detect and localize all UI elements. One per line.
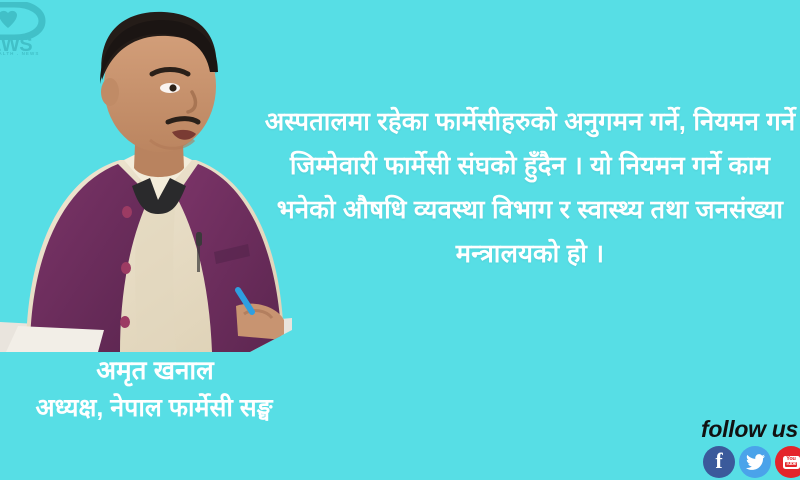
- facebook-icon[interactable]: f: [703, 446, 735, 478]
- facebook-glyph: f: [715, 450, 722, 472]
- youtube-glyph: You Tube: [783, 456, 800, 469]
- twitter-bird-glyph: [746, 454, 765, 470]
- speaker-name: अमृत खनाल: [0, 354, 310, 386]
- logo-tagline: HEALTH . NEWS: [0, 52, 39, 57]
- youtube-line-2: Tube: [785, 462, 798, 467]
- channel-logo: EWS HEALTH . NEWS: [0, 2, 58, 58]
- youtube-icon[interactable]: You Tube: [775, 446, 800, 478]
- follow-us-label: follow us: [701, 416, 798, 442]
- news-quote-card: EWS HEALTH . NEWS अस्पतालमा रहेका फार्मे…: [0, 0, 800, 480]
- quote-text: अस्पतालमा रहेका फार्मेसीहरुको अनुगमन गर्…: [262, 100, 798, 276]
- speaker-designation: अध्यक्ष, नेपाल फार्मेसी सङ्घ: [0, 392, 334, 424]
- twitter-icon[interactable]: [739, 446, 771, 478]
- social-links: f You Tube: [703, 446, 800, 478]
